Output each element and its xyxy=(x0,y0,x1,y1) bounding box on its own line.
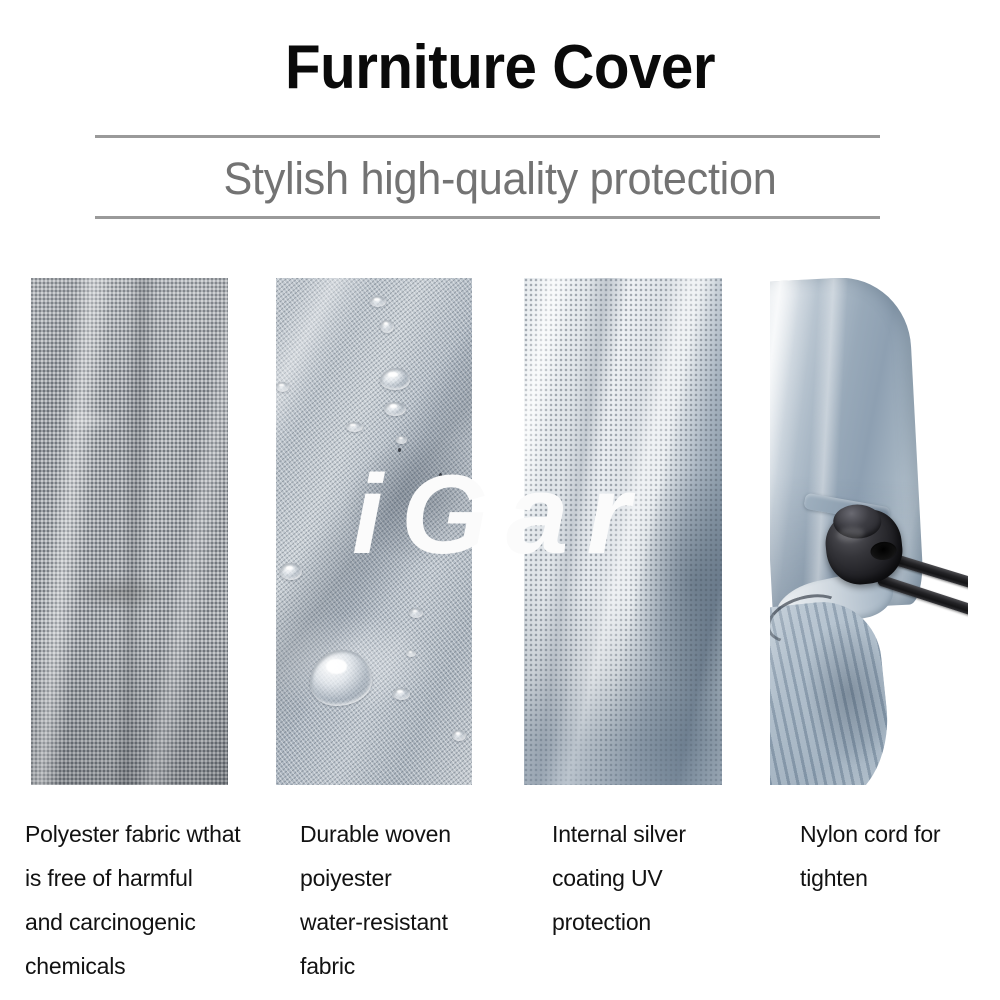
caption-line: chemicals xyxy=(25,944,280,988)
water-droplet xyxy=(384,402,406,416)
caption-line: coating UV xyxy=(552,856,772,900)
water-droplet xyxy=(346,422,363,432)
caption-line: Durable woven xyxy=(300,812,530,856)
caption-line: Polyester fabric wthat xyxy=(25,812,280,856)
divider-bottom xyxy=(95,216,880,219)
cord-lock-hole xyxy=(870,541,898,562)
water-droplet xyxy=(370,296,386,307)
caption-line: poiyester xyxy=(300,856,530,900)
caption-silver-coating: Internal silver coating UV protection xyxy=(552,812,772,944)
water-droplet xyxy=(409,608,423,618)
caption-line: water-resistant xyxy=(300,900,530,944)
caption-durable-woven: Durable woven poiyester water-resistant … xyxy=(300,812,530,988)
caption-line: tighten xyxy=(800,856,1000,900)
fabric-speck xyxy=(439,473,442,478)
fabric-folds xyxy=(276,278,472,785)
caption-line: is free of harmful xyxy=(25,856,280,900)
caption-line: and carcinogenic xyxy=(25,900,280,944)
water-droplet xyxy=(396,436,407,444)
caption-polyester-fabric: Polyester fabric wthat is free of harmfu… xyxy=(25,812,280,988)
panel-nylon-cord-lock xyxy=(770,278,968,785)
fabric-speck xyxy=(398,448,401,452)
product-infographic: Furniture Cover Stylish high-quality pro… xyxy=(0,0,1000,1000)
page-subtitle: Stylish high-quality protection xyxy=(20,148,980,210)
caption-line: Internal silver xyxy=(552,812,772,856)
water-droplet xyxy=(393,688,410,700)
water-droplet xyxy=(380,368,410,390)
panel-water-beading-fabric xyxy=(276,278,472,785)
water-droplet xyxy=(380,320,394,333)
caption-line: fabric xyxy=(300,944,530,988)
water-droplet xyxy=(280,563,302,580)
water-droplet xyxy=(310,650,372,706)
panel-silver-coating-fabric xyxy=(524,278,722,785)
divider-top xyxy=(95,135,880,138)
caption-line: Nylon cord for xyxy=(800,812,1000,856)
fabric-shading xyxy=(524,278,722,785)
page-title: Furniture Cover xyxy=(30,32,970,104)
caption-line: protection xyxy=(552,900,772,944)
fabric-shading xyxy=(31,278,228,785)
panel-grey-polyester-fabric xyxy=(31,278,228,785)
water-droplet xyxy=(276,382,289,392)
water-droplet xyxy=(452,730,466,741)
watermark: iGar xyxy=(120,455,880,575)
water-droplet xyxy=(406,650,416,657)
caption-nylon-cord: Nylon cord for tighten xyxy=(800,812,1000,900)
